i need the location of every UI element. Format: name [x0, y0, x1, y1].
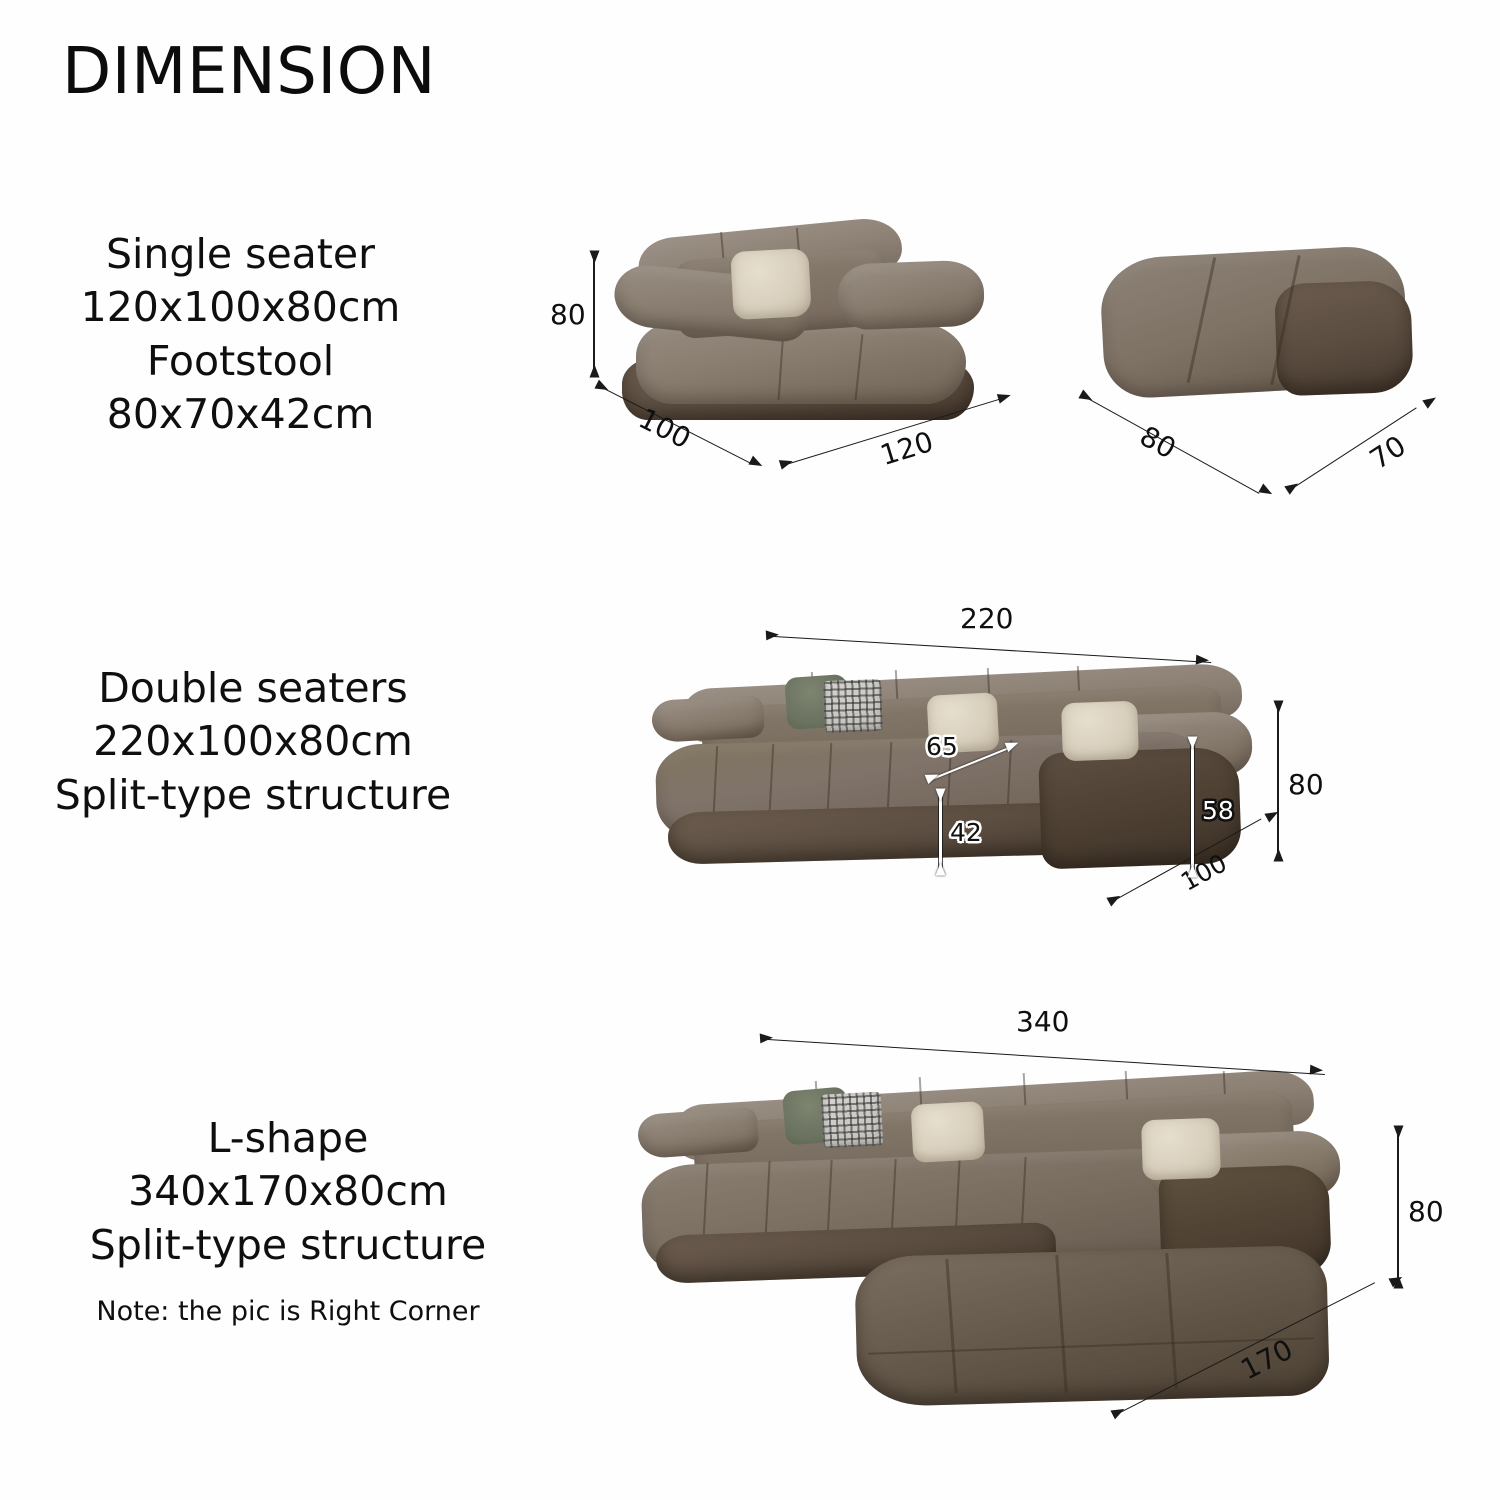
arrowhead-upright [1422, 393, 1438, 408]
arrowhead-down [1274, 849, 1284, 862]
footstool-front-face [1274, 280, 1414, 397]
spec-line: Single seater [18, 228, 463, 281]
arrowhead-right [1310, 1065, 1324, 1076]
spec-block-double-seaters: Double seaters 220x100x80cm Split-type s… [8, 662, 498, 822]
armchair-throw-pillow [730, 248, 811, 320]
arrowhead-up-white [936, 789, 946, 802]
arrowhead-up [1274, 701, 1284, 714]
spec-line: 80x70x42cm [18, 388, 463, 441]
dim-label-lshape-height: 80 [1408, 1195, 1444, 1228]
arrowhead-upleft [1078, 389, 1094, 404]
dim-label-armchair-height: 80 [550, 298, 586, 331]
dim-label-double-seat-depth: 65 [926, 732, 958, 761]
spec-line: L-shape [8, 1112, 568, 1165]
figure-single-seater-armchair: 80 100 120 [590, 210, 1020, 490]
dim-line-double-seat-height [939, 796, 942, 872]
lshape-pillow-checkered [821, 1091, 884, 1148]
spec-line: Split-type structure [8, 769, 498, 822]
spec-line: 340x170x80cm [8, 1165, 568, 1218]
lshape-pillow-cream-right [1141, 1118, 1221, 1181]
figure-double-seater-sofa: 220 80 100 65 42 58 [640, 610, 1300, 930]
dim-line-lshape-height [1397, 1133, 1399, 1285]
spec-line: Footstool [18, 335, 463, 388]
arrowhead-down-white [936, 863, 946, 876]
dim-line-double-back-height [1191, 744, 1194, 874]
arrowhead-down [590, 365, 600, 378]
spec-block-l-shape: L-shape 340x170x80cm Split-type structur… [8, 1112, 568, 1329]
arrowhead-up [590, 251, 600, 264]
lshape-chaise-section [854, 1245, 1330, 1407]
dim-label-lshape-width: 340 [1016, 1005, 1069, 1038]
dim-label-armchair-width: 120 [876, 425, 937, 472]
spec-note: Note: the pic is Right Corner [8, 1294, 568, 1329]
double-pillow-cream-right [1061, 701, 1139, 762]
lshape-left-arm [637, 1107, 760, 1159]
lshape-pillow-cream-left [911, 1101, 986, 1163]
arrowhead-up-white [1188, 737, 1198, 750]
arrowhead-downleft [1106, 891, 1122, 906]
spec-line: 120x100x80cm [18, 281, 463, 334]
spec-line: Split-type structure [8, 1219, 568, 1272]
figure-footstool: 80 70 [1080, 230, 1460, 480]
arrowhead-upright [997, 390, 1012, 403]
arrowhead-downleft [1110, 1405, 1126, 1420]
arrowhead-downleft [779, 456, 794, 469]
spec-line: Double seaters [8, 662, 498, 715]
arrowhead-right [1196, 655, 1210, 666]
page-title: DIMENSION [62, 40, 436, 104]
dim-line-armchair-height [593, 258, 595, 374]
dim-label-footstool-width: 80 [1134, 419, 1181, 465]
arrowhead-left [760, 1033, 774, 1044]
dim-line-double-width [774, 636, 1211, 663]
arrowhead-upleft [594, 380, 610, 395]
dim-label-double-seat-height: 42 [950, 818, 982, 847]
dim-label-double-height: 80 [1288, 768, 1324, 801]
arrowhead-up [1394, 1126, 1404, 1139]
arrowhead-downright [748, 456, 764, 471]
spec-block-single-seater: Single seater 120x100x80cm Footstool 80x… [18, 228, 463, 441]
arrowhead-down-white [1188, 865, 1198, 878]
armchair-right-arm [837, 259, 985, 330]
figure-l-shape-sofa: 340 80 170 [620, 1015, 1430, 1435]
arrowhead-downright [1258, 483, 1274, 498]
dim-line-double-height [1277, 708, 1279, 858]
arrowhead-downleft [1284, 479, 1300, 494]
dim-label-double-width: 220 [960, 602, 1013, 635]
dim-line-lshape-width [768, 1039, 1325, 1075]
arrowhead-left [766, 630, 780, 641]
double-pillow-checkered [823, 679, 883, 733]
double-left-arm [651, 695, 765, 743]
spec-line: 220x100x80cm [8, 715, 498, 768]
dim-label-double-back-height: 58 [1202, 796, 1234, 825]
dimension-spec-sheet: DIMENSION Single seater 120x100x80cm Foo… [0, 0, 1500, 1500]
